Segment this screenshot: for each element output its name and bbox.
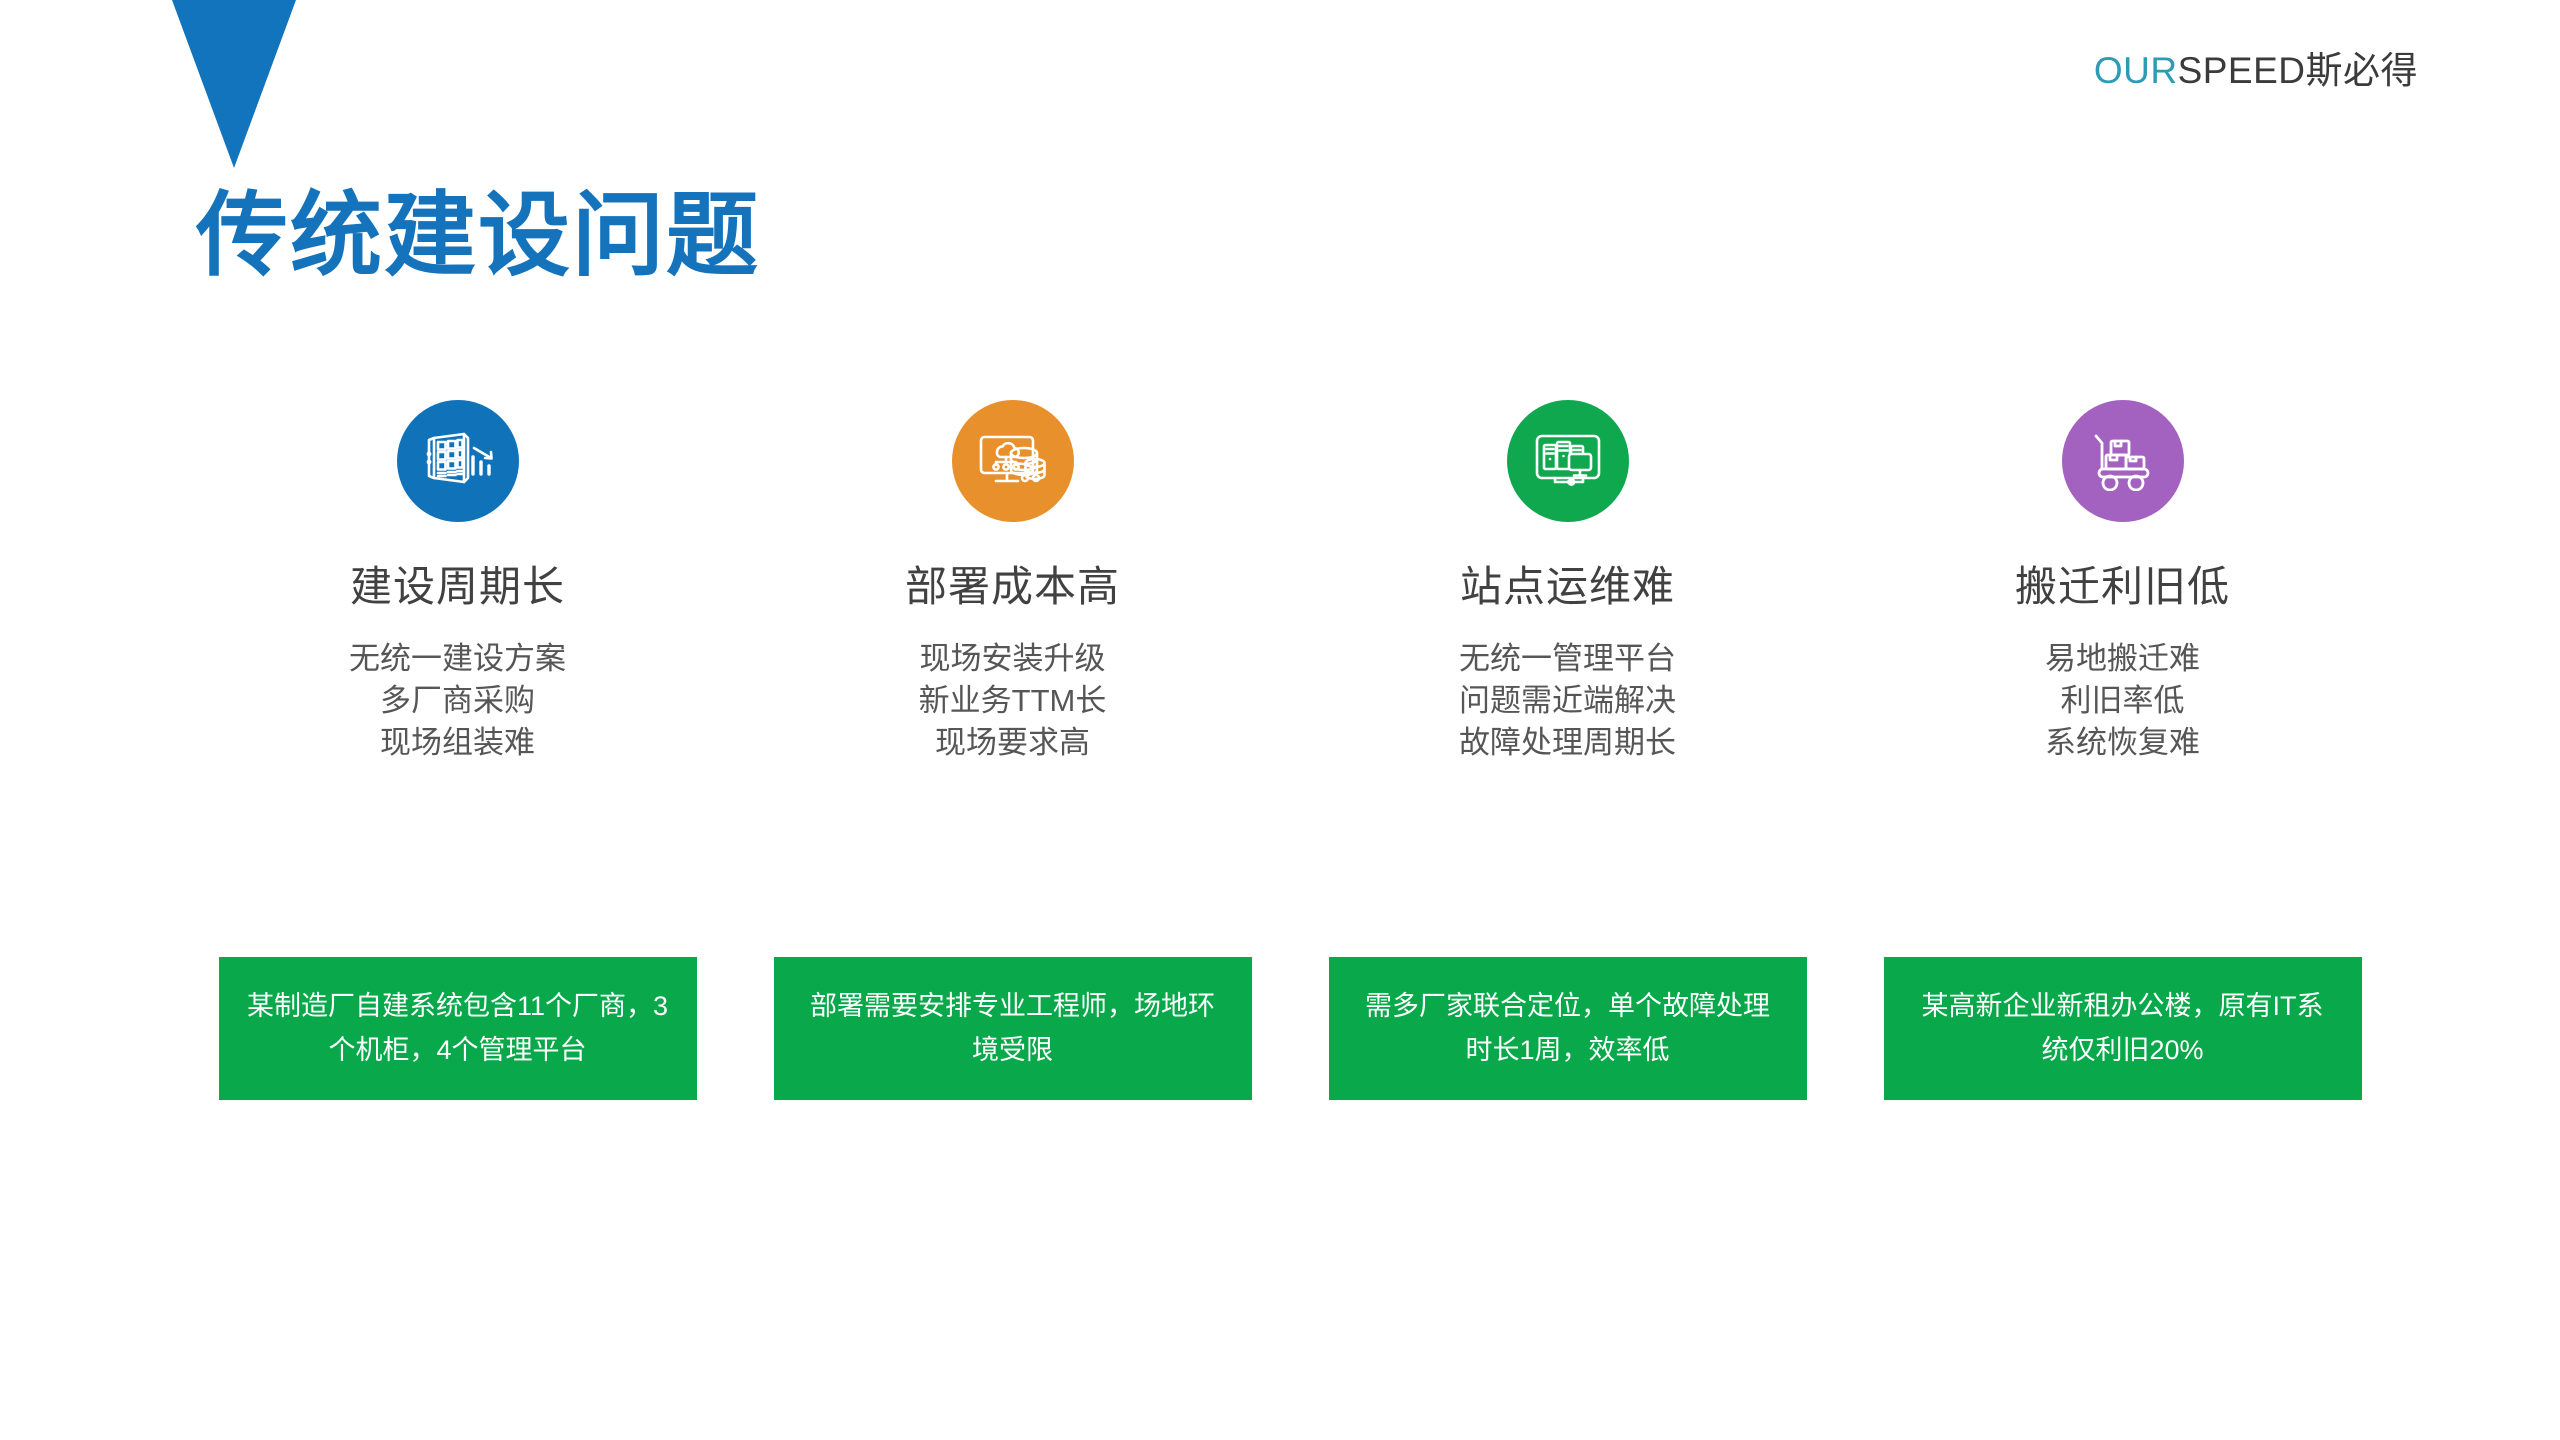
column-heading: 搬迁利旧低 <box>2015 562 2230 612</box>
problem-column-2: 部署成本高 现场安装升级 新业务TTM长 现场要求高 <box>735 400 1290 764</box>
column-heading: 部署成本高 <box>905 562 1120 612</box>
server-rack-declining-chart-icon <box>397 400 519 522</box>
callout-row: 某制造厂自建系统包含11个厂商，3个机柜，4个管理平台 部署需要安排专业工程师，… <box>180 957 2400 1100</box>
problem-column-4: 搬迁利旧低 易地搬迁难 利旧率低 系统恢复难 <box>1845 400 2400 764</box>
callout-box: 需多厂家联合定位，单个故障处理时长1周，效率低 <box>1329 957 1807 1100</box>
problem-columns: 建设周期长 无统一建设方案 多厂商采购 现场组装难 <box>180 400 2400 764</box>
callout-text: 某制造厂自建系统包含11个厂商，3个机柜，4个管理平台 <box>245 985 671 1071</box>
callout-slot-3: 需多厂家联合定位，单个故障处理时长1周，效率低 <box>1290 957 1845 1100</box>
column-bullet-list: 现场安装升级 新业务TTM长 现场要求高 <box>919 638 1107 764</box>
column-bullet-list: 无统一建设方案 多厂商采购 现场组装难 <box>349 638 566 764</box>
hand-truck-boxes-icon <box>2062 400 2184 522</box>
page-title: 传统建设问题 <box>196 186 760 287</box>
column-heading: 建设周期长 <box>350 562 565 612</box>
callout-text: 需多厂家联合定位，单个故障处理时长1周，效率低 <box>1355 985 1781 1071</box>
callout-text: 部署需要安排专业工程师，场地环境受限 <box>800 985 1226 1071</box>
callout-box: 部署需要安排专业工程师，场地环境受限 <box>774 957 1252 1100</box>
callout-slot-4: 某高新企业新租办公楼，原有IT系统仅利旧20% <box>1845 957 2400 1100</box>
logo-speed-text: SPEED <box>2178 50 2306 91</box>
logo-our-text: OUR <box>2094 50 2178 91</box>
column-bullet-list: 易地搬迁难 利旧率低 系统恢复难 <box>2045 638 2200 764</box>
column-bullet-line: 问题需近端解决 <box>1459 680 1676 722</box>
column-bullet-line: 现场组装难 <box>349 722 566 764</box>
problem-column-3: 站点运维难 无统一管理平台 问题需近端解决 故障处理周期长 <box>1290 400 1845 764</box>
callout-box: 某高新企业新租办公楼，原有IT系统仅利旧20% <box>1884 957 2362 1100</box>
column-bullet-line: 易地搬迁难 <box>2045 638 2200 680</box>
callout-box: 某制造厂自建系统包含11个厂商，3个机柜，4个管理平台 <box>219 957 697 1100</box>
column-bullet-line: 无统一管理平台 <box>1459 638 1676 680</box>
callout-slot-2: 部署需要安排专业工程师，场地环境受限 <box>735 957 1290 1100</box>
column-bullet-line: 现场安装升级 <box>919 638 1107 680</box>
problem-column-1: 建设周期长 无统一建设方案 多厂商采购 现场组装难 <box>180 400 735 764</box>
column-heading: 站点运维难 <box>1460 562 1675 612</box>
column-bullet-line: 现场要求高 <box>919 722 1107 764</box>
blue-triangle-icon <box>172 0 296 168</box>
column-bullet-line: 多厂商采购 <box>349 680 566 722</box>
logo-chinese-text: 斯必得 <box>2306 50 2419 91</box>
callout-text: 某高新企业新租办公楼，原有IT系统仅利旧20% <box>1910 985 2336 1071</box>
column-bullet-line: 利旧率低 <box>2045 680 2200 722</box>
column-bullet-line: 无统一建设方案 <box>349 638 566 680</box>
column-bullet-line: 新业务TTM长 <box>919 680 1107 722</box>
datacenter-monitor-screen-icon <box>1507 400 1629 522</box>
callout-slot-1: 某制造厂自建系统包含11个厂商，3个机柜，4个管理平台 <box>180 957 735 1100</box>
monitor-cloud-coins-icon <box>952 400 1074 522</box>
brand-logo: OURSPEED斯必得 <box>2094 52 2418 89</box>
column-bullet-line: 故障处理周期长 <box>1459 722 1676 764</box>
column-bullet-list: 无统一管理平台 问题需近端解决 故障处理周期长 <box>1459 638 1676 764</box>
column-bullet-line: 系统恢复难 <box>2045 722 2200 764</box>
slide-canvas: OURSPEED斯必得 传统建设问题 <box>0 0 2560 1440</box>
